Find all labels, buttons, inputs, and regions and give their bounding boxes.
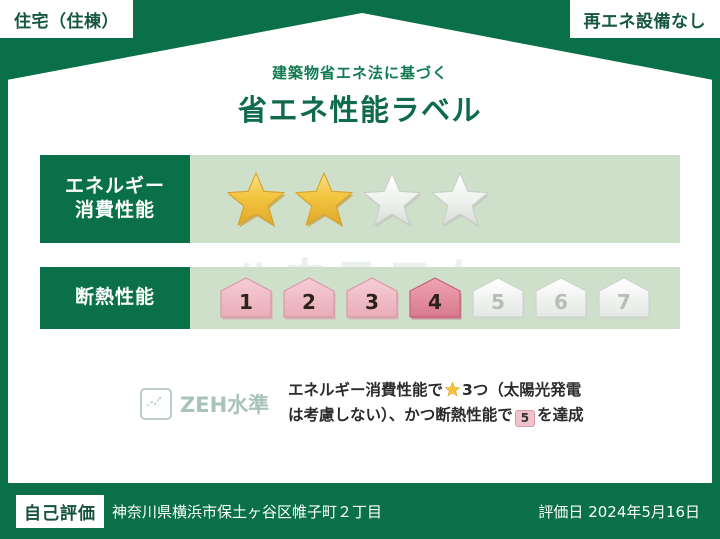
grade-number: 7 bbox=[617, 290, 631, 320]
zeh-standard-block: ZEH水準 エネルギー消費性能で3つ（太陽光発電は考慮しない）、かつ断熱性能で5… bbox=[140, 378, 588, 428]
grade-number: 2 bbox=[302, 290, 316, 320]
zeh-desc-star-suffix: 3つ（太陽光発電 bbox=[462, 381, 581, 399]
insulation-performance-label: 断熱性能 bbox=[40, 267, 190, 329]
zeh-house-icon bbox=[140, 388, 172, 420]
grade-number: 3 bbox=[365, 290, 379, 320]
insulation-grade-badge-7: 7 bbox=[596, 276, 652, 320]
insulation-grade-badge-3: 3 bbox=[344, 276, 400, 320]
grade-number: 6 bbox=[554, 290, 568, 320]
zeh-description: エネルギー消費性能で3つ（太陽光発電は考慮しない）、かつ断熱性能で5を達成 bbox=[288, 378, 588, 428]
insulation-performance-row: 断熱性能 1234567 bbox=[40, 267, 680, 329]
zeh-badge: ZEH水準 bbox=[140, 378, 288, 420]
insulation-label-line1: 断熱性能 bbox=[75, 286, 155, 310]
energy-performance-label: エネルギー 消費性能 bbox=[40, 155, 190, 243]
star-list bbox=[190, 169, 491, 229]
insulation-grade-badge-6: 6 bbox=[533, 276, 589, 320]
renewable-equipment-tag: 再エネ設備なし bbox=[570, 0, 720, 38]
grade-number: 4 bbox=[428, 290, 442, 320]
energy-label-line2: 消費性能 bbox=[75, 199, 155, 223]
energy-star-rating bbox=[190, 155, 680, 243]
star-empty-icon bbox=[429, 169, 491, 229]
insulation-grade-badge-5: 5 bbox=[470, 276, 526, 320]
star-empty-icon bbox=[361, 169, 423, 229]
star-filled-icon bbox=[293, 169, 355, 229]
zeh-badge-label: ZEH水準 bbox=[180, 389, 269, 419]
zeh-desc-line2-post: を達成 bbox=[537, 406, 584, 424]
evaluation-date: 評価日 2024年5月16日 bbox=[538, 501, 700, 522]
star-filled-icon bbox=[225, 169, 287, 229]
energy-performance-row: エネルギー 消費性能 bbox=[40, 155, 680, 243]
inline-grade-badge: 5 bbox=[515, 410, 535, 427]
grade-number: 1 bbox=[239, 290, 253, 320]
zeh-desc-line1: エネルギー消費性能で bbox=[288, 381, 443, 399]
evaluation-type-badge: 自己評価 bbox=[16, 495, 104, 528]
grade-number: 5 bbox=[491, 290, 505, 320]
title-main: 省エネ性能ラベル bbox=[0, 87, 720, 129]
property-address: 神奈川県横浜市保土ヶ谷区帷子町２丁目 bbox=[112, 501, 382, 522]
insulation-grade-badge-1: 1 bbox=[218, 276, 274, 320]
zeh-desc-line2-pre: は考慮しない）、かつ断熱性能で bbox=[288, 406, 513, 424]
building-type-tag: 住宅（住棟） bbox=[0, 0, 133, 38]
insulation-grade-scale: 1234567 bbox=[190, 267, 680, 329]
energy-label-line1: エネルギー bbox=[65, 175, 165, 199]
label-footer: 自己評価 神奈川県横浜市保土ヶ谷区帷子町２丁目 評価日 2024年5月16日 bbox=[0, 483, 720, 539]
label-title-block: 建築物省エネ法に基づく 省エネ性能ラベル bbox=[0, 62, 720, 129]
insulation-grade-badge-2: 2 bbox=[281, 276, 337, 320]
energy-performance-label: 住宅（住棟） 再エネ設備なし 建築物省エネ法に基づく 省エネ性能ラベル ハウスコ… bbox=[0, 0, 720, 539]
insulation-grade-badge-4: 4 bbox=[407, 276, 463, 320]
grade-list: 1234567 bbox=[190, 276, 652, 320]
inline-star-icon bbox=[444, 381, 461, 398]
title-subtitle: 建築物省エネ法に基づく bbox=[0, 62, 720, 83]
